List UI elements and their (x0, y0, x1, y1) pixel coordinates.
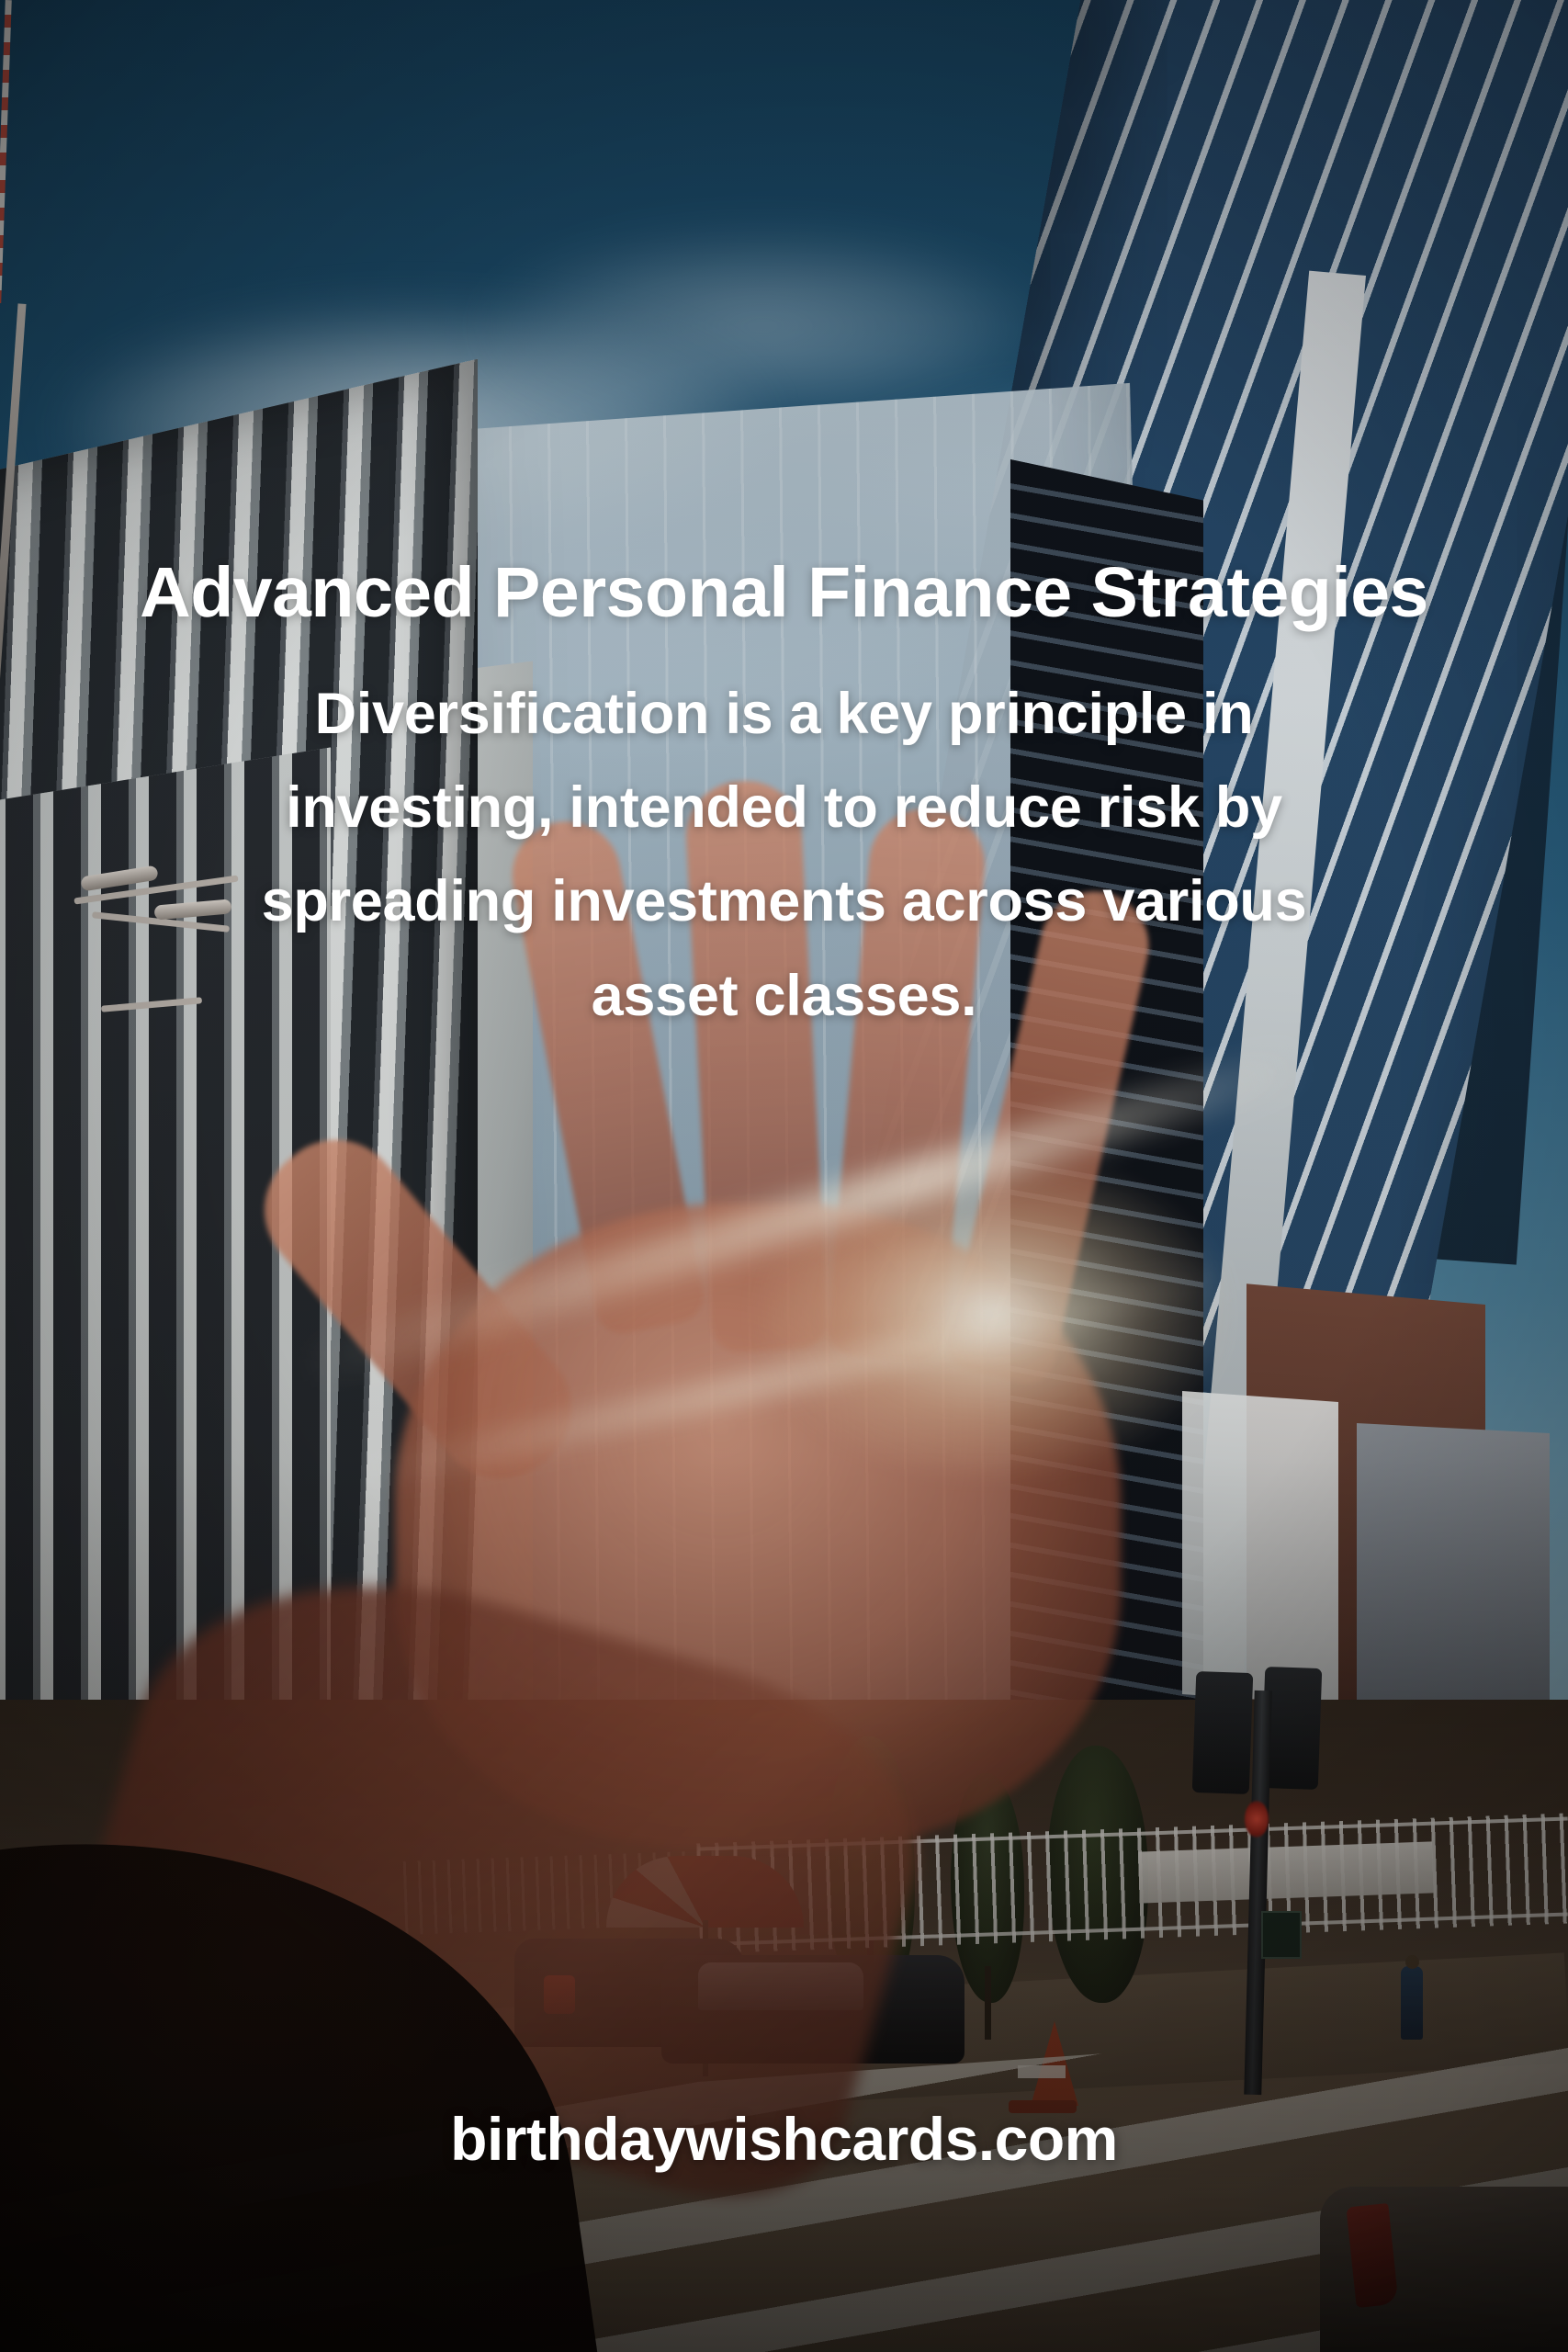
website-footer[interactable]: birthdaywishcards.com (0, 2104, 1568, 2174)
pedestrian-head (1405, 1955, 1419, 1969)
pedestrian (1401, 1966, 1423, 2040)
page-title: Advanced Personal Finance Strategies (105, 0, 1464, 630)
tree-trunk (985, 1966, 991, 2040)
social-quote-card: Advanced Personal Finance Strategies Div… (0, 0, 1568, 2352)
street-sign (1138, 1841, 1434, 1903)
traffic-light-red-signal (1245, 1801, 1269, 1837)
car-window (698, 1962, 863, 2010)
body-text: Diversification is a key principle in in… (201, 630, 1368, 1042)
text-block: Advanced Personal Finance Strategies Div… (0, 0, 1568, 1043)
traffic-light-housing (1192, 1671, 1254, 1794)
white-block-building (1182, 1391, 1338, 1705)
car-taillight (544, 1975, 575, 2014)
pedestrian-sign (1261, 1911, 1302, 1959)
